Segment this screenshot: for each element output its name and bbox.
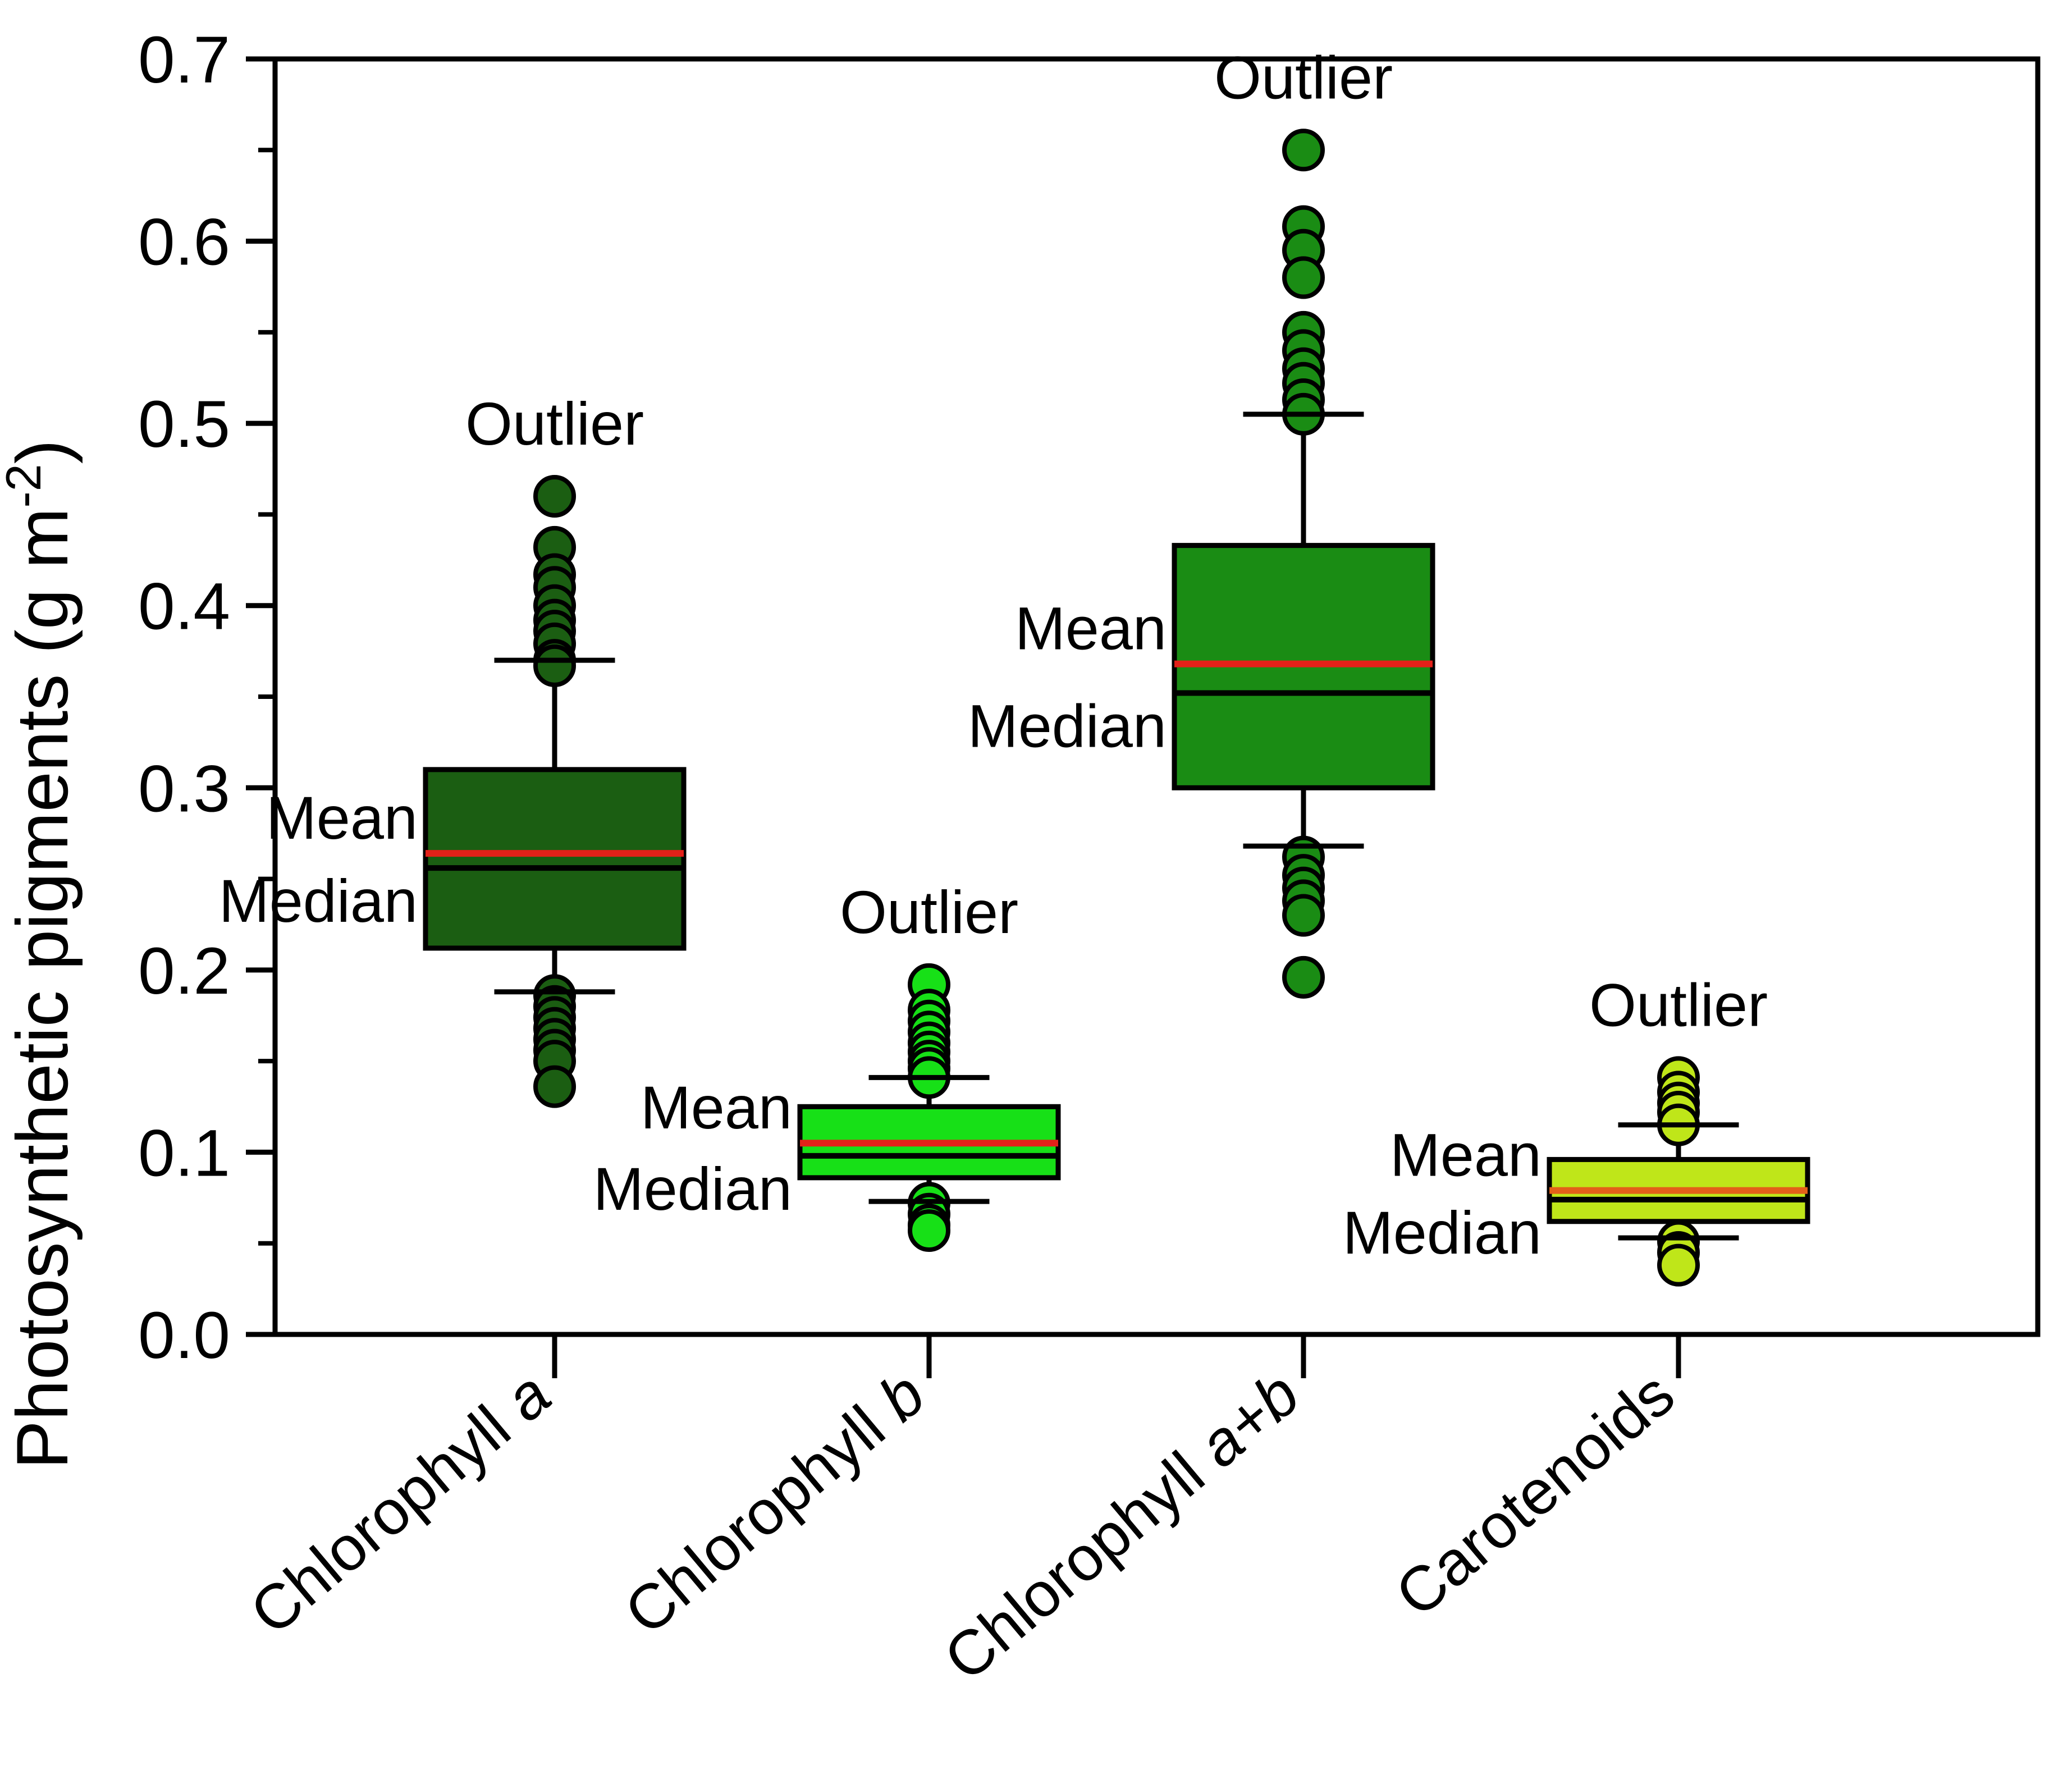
outlier-point [1659, 1246, 1698, 1284]
mean-annotation: Mean [1015, 595, 1167, 662]
chart-canvas: Photosynthetic pigments (g m-2) 0.70.60.… [0, 0, 2072, 1774]
y-tick-label: 0.3 [138, 752, 230, 826]
boxplot-figure: Photosynthetic pigments (g m-2) 0.70.60.… [0, 0, 2072, 1774]
median-annotation: Median [593, 1155, 792, 1223]
median-annotation: Median [968, 692, 1167, 760]
outlier-point [536, 477, 574, 515]
y-tick-label: 0.1 [138, 1116, 230, 1190]
mean-annotation: Mean [266, 784, 418, 852]
mean-annotation: Mean [1390, 1121, 1542, 1189]
outlier-point [1284, 958, 1323, 996]
outlier-point [1284, 896, 1323, 934]
outlier-annotation: Outlier [840, 878, 1018, 946]
box-body [426, 770, 684, 948]
y-axis-title-main: Photosynthetic pigments (g m [1, 508, 83, 1469]
y-tick-label: 0.4 [138, 570, 230, 644]
y-tick-label: 0.0 [138, 1299, 230, 1373]
outlier-point [1284, 258, 1323, 296]
outlier-annotation: Outlier [1214, 43, 1393, 111]
outlier-point [536, 647, 574, 685]
y-axis-title-superscript: -2 [0, 464, 51, 507]
outlier-annotation: Outlier [1589, 971, 1768, 1039]
mean-annotation: Mean [641, 1073, 792, 1141]
y-axis-title: Photosynthetic pigments (g m-2) [0, 440, 83, 1469]
y-tick-label: 0.7 [138, 23, 230, 97]
y-tick-label: 0.5 [138, 387, 230, 461]
median-annotation: Median [219, 867, 418, 935]
outlier-annotation: Outlier [465, 390, 644, 458]
y-axis-title-close: ) [1, 440, 83, 464]
y-tick-label: 0.6 [138, 205, 230, 280]
outlier-point [1284, 131, 1323, 169]
median-annotation: Median [1343, 1199, 1542, 1267]
y-tick-label: 0.2 [138, 934, 230, 1008]
outlier-point [536, 1068, 574, 1106]
svg-text:Photosynthetic pigments (g m-2: Photosynthetic pigments (g m-2) [0, 440, 83, 1469]
outlier-point [910, 1211, 948, 1250]
